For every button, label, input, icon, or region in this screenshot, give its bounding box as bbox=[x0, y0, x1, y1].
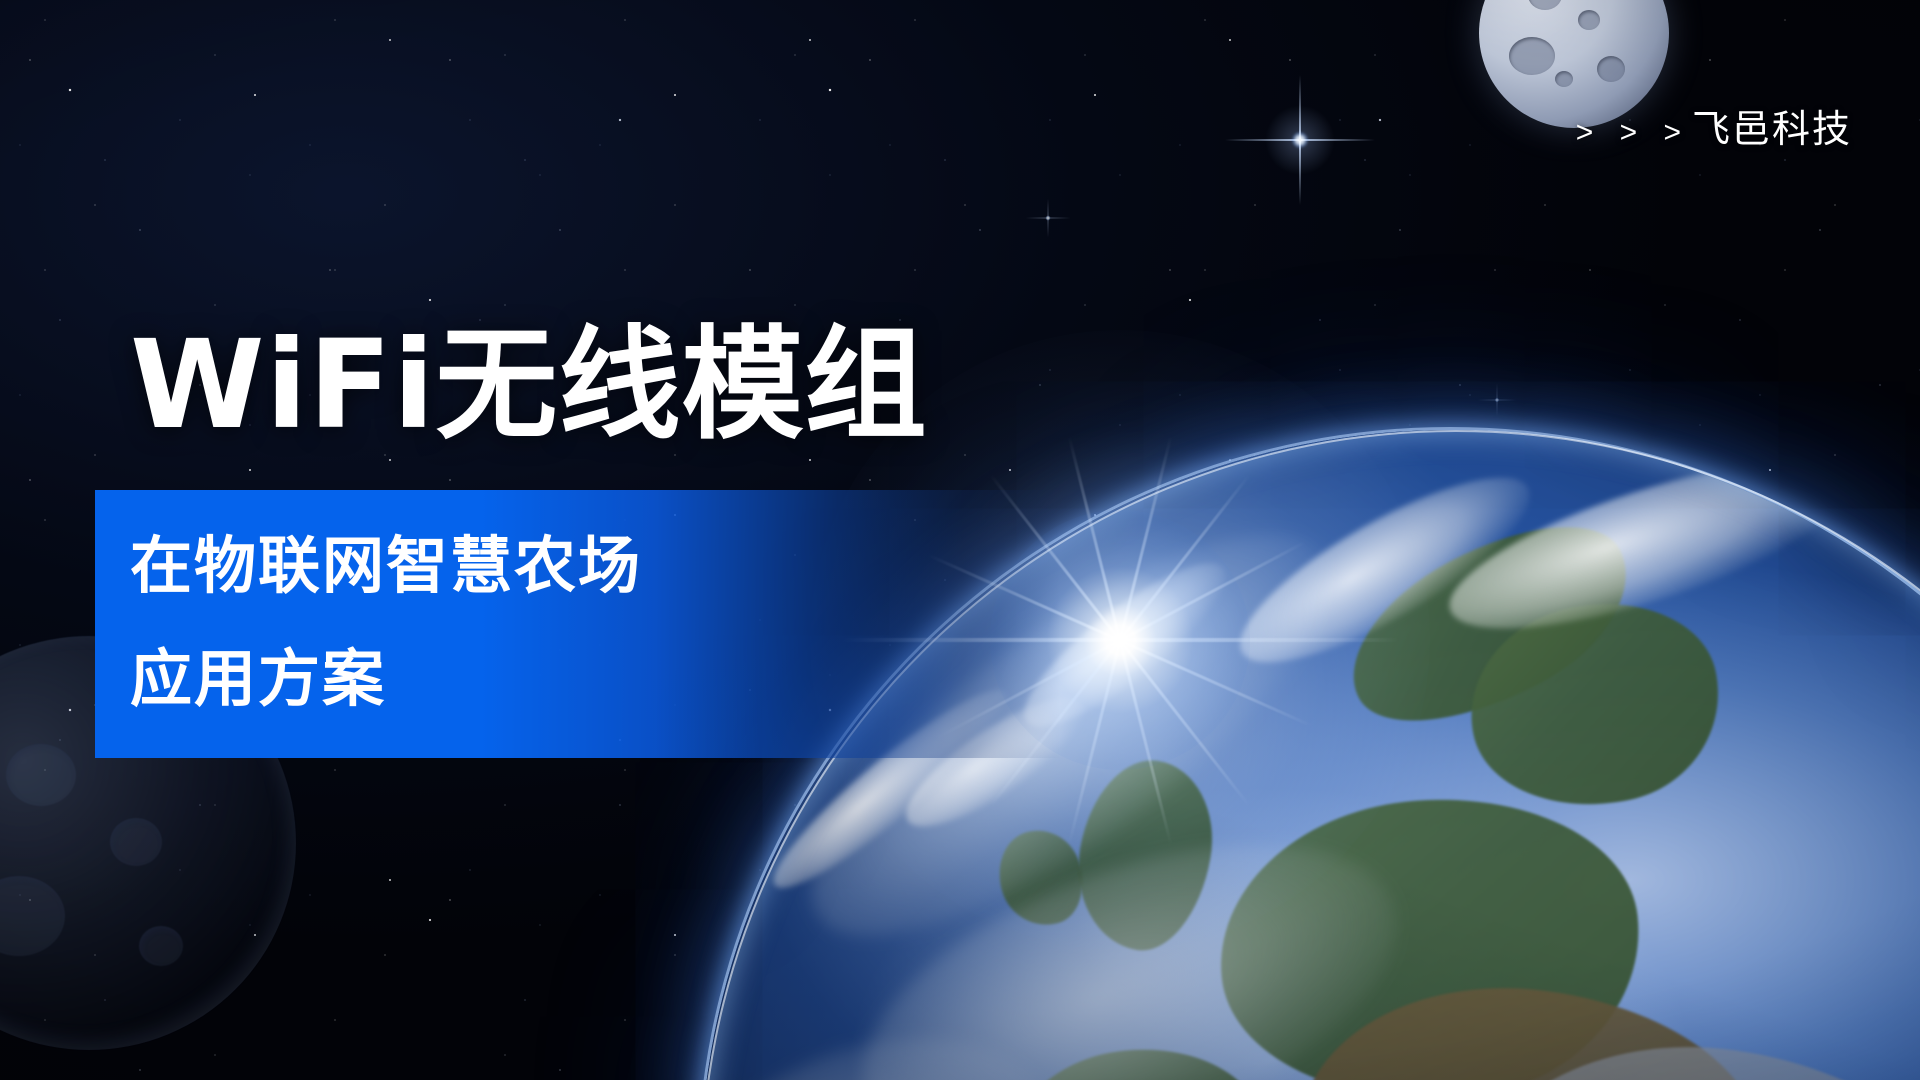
moon-crater bbox=[1597, 56, 1625, 82]
hero-banner: > > > 飞邑科技 WiFi无线模组 在物联网智慧农场 应用方案 bbox=[0, 0, 1920, 1080]
subtitle-line-2: 应用方案 bbox=[130, 623, 642, 736]
brand-name: 飞邑科技 bbox=[1692, 98, 1852, 153]
moon-crater bbox=[1509, 37, 1555, 75]
brand-logo[interactable]: > > > 飞邑科技 bbox=[1576, 98, 1852, 153]
moon-crater bbox=[1555, 71, 1573, 87]
moon-crater bbox=[1578, 10, 1600, 30]
hero-title-block: WiFi无线模组 bbox=[0, 320, 928, 452]
chevron-right-triple-icon: > > > bbox=[1576, 116, 1690, 150]
page-title: WiFi无线模组 bbox=[0, 320, 928, 452]
hero-subtitle: 在物联网智慧农场 应用方案 bbox=[130, 510, 642, 736]
subtitle-line-1: 在物联网智慧农场 bbox=[130, 510, 642, 623]
moon-crater bbox=[1528, 0, 1562, 10]
